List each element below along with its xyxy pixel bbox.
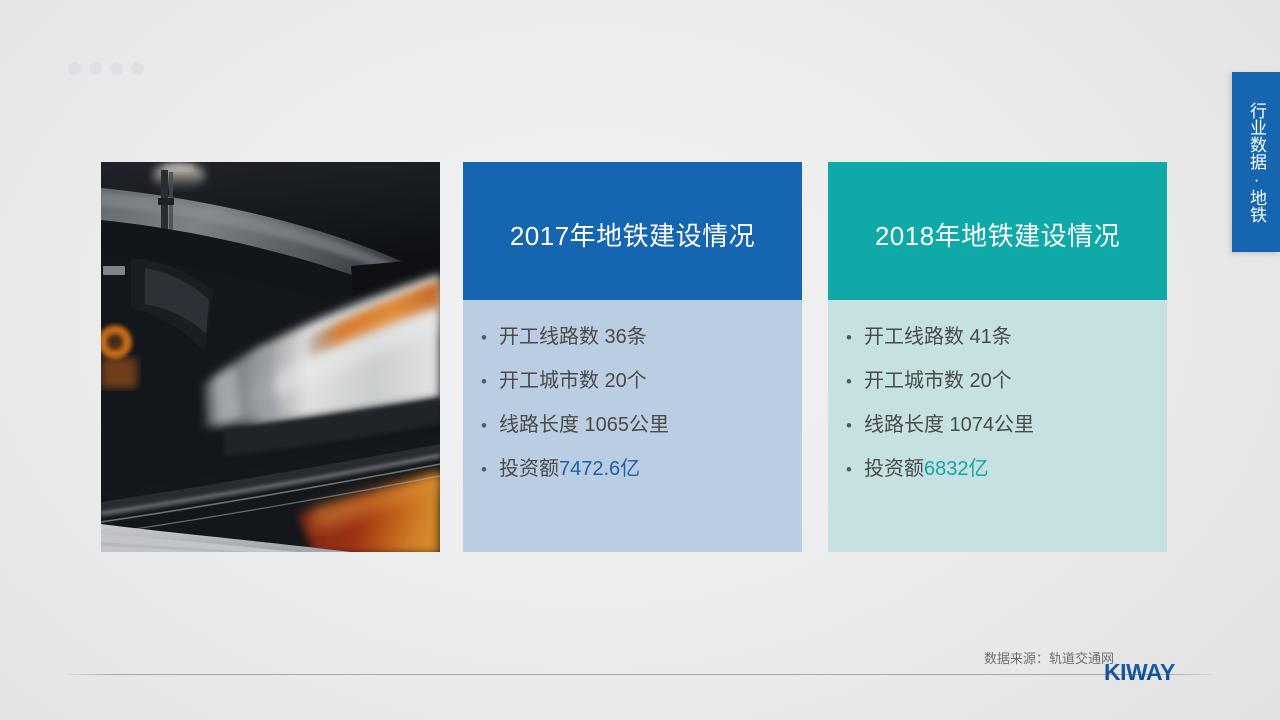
bullet-dot-icon: •: [481, 417, 499, 434]
decor-dot-icon: [89, 62, 102, 75]
list-item: • 开工线路数 36条: [481, 326, 802, 348]
decor-dot-icon: [68, 62, 81, 75]
list-item-label: 线路长度 1074公里: [864, 414, 1034, 436]
side-tab-label: 行业数据·地铁: [1245, 102, 1267, 223]
list-item: • 线路长度 1074公里: [846, 414, 1167, 436]
decor-dot-icon: [131, 62, 144, 75]
subway-photo: [101, 162, 440, 552]
list-item: • 开工城市数 20个: [481, 370, 802, 392]
decor-dots: [68, 62, 144, 75]
data-source-note: 数据来源：轨道交通网: [984, 648, 1114, 667]
bullet-dot-icon: •: [481, 373, 499, 390]
list-item-highlight-value: 7472.6亿: [559, 458, 640, 480]
card-2018-title: 2018年地铁建设情况: [875, 216, 1120, 253]
list-item-label: 线路长度 1065公里: [499, 414, 669, 436]
list-item-highlight-value: 6832亿: [924, 458, 989, 480]
card-2018: 2018年地铁建设情况 • 开工线路数 41条 • 开工城市数 20个 • 线路…: [828, 162, 1167, 552]
list-item-prefix: 投资额: [499, 458, 559, 480]
card-2017-header: 2017年地铁建设情况: [463, 162, 802, 300]
decor-dot-icon: [110, 62, 123, 75]
list-item-label: 开工线路数 36条: [499, 326, 647, 348]
list-item-label: 开工线路数 41条: [864, 326, 1012, 348]
list-item: • 开工城市数 20个: [846, 370, 1167, 392]
card-2017: 2017年地铁建设情况 • 开工线路数 36条 • 开工城市数 20个 • 线路…: [463, 162, 802, 552]
card-2017-body: • 开工线路数 36条 • 开工城市数 20个 • 线路长度 1065公里 • …: [463, 300, 802, 552]
kiway-logo: KIWAY: [1104, 658, 1200, 688]
list-item: • 开工线路数 41条: [846, 326, 1167, 348]
slide-canvas: 行业数据·地铁: [0, 0, 1280, 720]
bullet-dot-icon: •: [846, 417, 864, 434]
list-item: • 投资额 7472.6亿: [481, 458, 802, 480]
bullet-dot-icon: •: [846, 461, 864, 478]
bullet-dot-icon: •: [481, 461, 499, 478]
subway-photo-graphic: [101, 162, 440, 552]
card-2018-body: • 开工线路数 41条 • 开工城市数 20个 • 线路长度 1074公里 • …: [828, 300, 1167, 552]
list-item-label: 开工城市数 20个: [499, 370, 647, 392]
footer-divider: [68, 674, 1214, 675]
kiway-logo-mark: KIWAY: [1104, 658, 1200, 688]
list-item: • 投资额 6832亿: [846, 458, 1167, 480]
bullet-dot-icon: •: [481, 329, 499, 346]
bullet-dot-icon: •: [846, 373, 864, 390]
list-item-label: 开工城市数 20个: [864, 370, 1012, 392]
card-2018-header: 2018年地铁建设情况: [828, 162, 1167, 300]
side-tab[interactable]: 行业数据·地铁: [1232, 72, 1280, 252]
card-2017-title: 2017年地铁建设情况: [510, 216, 755, 253]
bullet-dot-icon: •: [846, 329, 864, 346]
svg-text:KIWAY: KIWAY: [1104, 659, 1175, 685]
list-item-prefix: 投资额: [864, 458, 924, 480]
list-item: • 线路长度 1065公里: [481, 414, 802, 436]
